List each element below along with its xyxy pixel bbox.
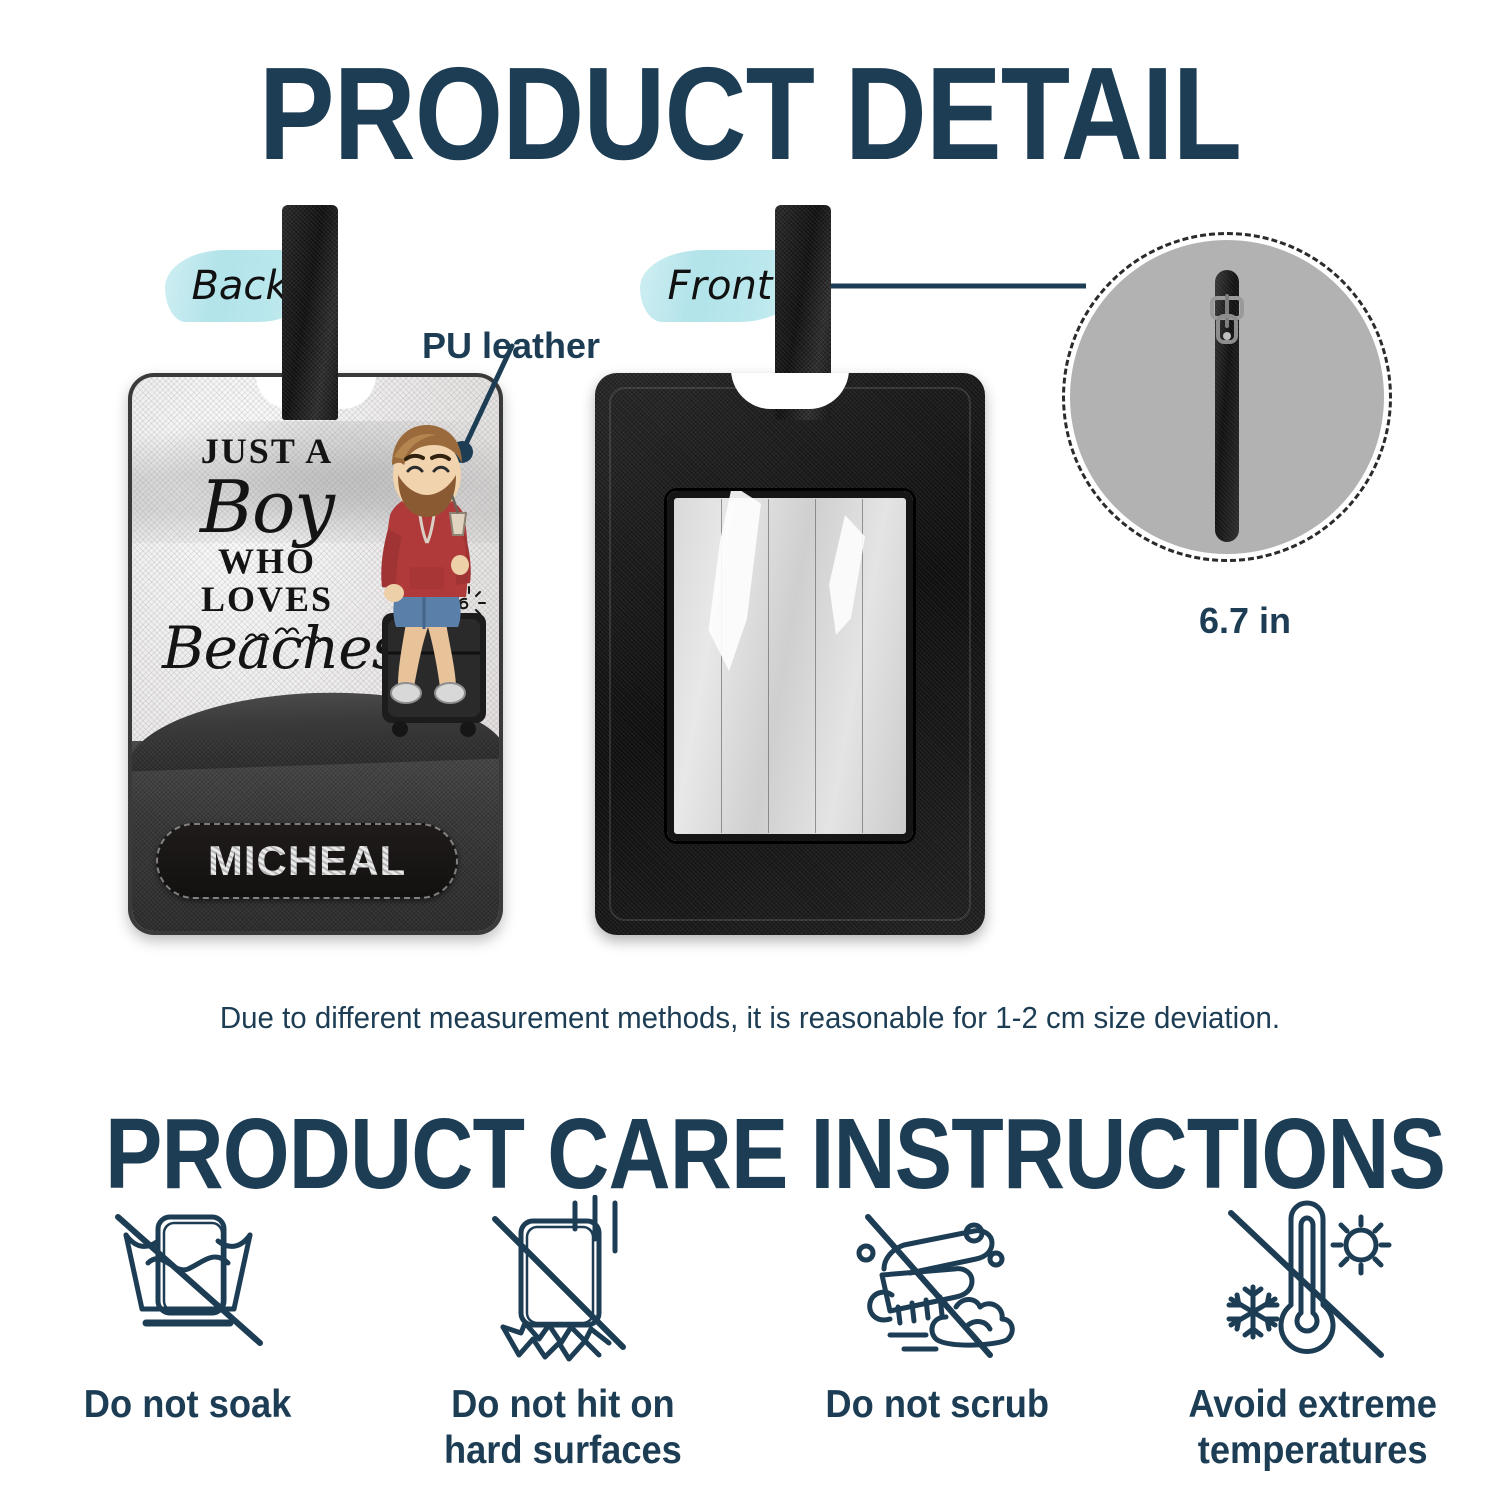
care-label: Do not soak: [84, 1382, 292, 1428]
id-card-window: [667, 491, 913, 841]
care-item-do-not-hit: Do not hit on hard surfaces: [375, 1195, 750, 1495]
tag-quote-block: JUST A Boy WHO LOVES Beaches: [162, 433, 372, 678]
luggage-tag-front: [595, 373, 985, 935]
no-impact-icon: [463, 1195, 663, 1370]
no-soak-icon: [88, 1195, 288, 1370]
tag-back-face: JUST A Boy WHO LOVES Beaches: [132, 377, 499, 931]
care-label: Avoid extreme temperatures: [1188, 1382, 1437, 1474]
name-plate-text: MICHEAL: [208, 837, 406, 885]
care-instructions-row: Do not soak Do not hit on hard surfaces: [0, 1195, 1500, 1495]
tag-strap-back: [282, 205, 338, 420]
luggage-tag-back: JUST A Boy WHO LOVES Beaches: [128, 373, 503, 935]
strap-detail-magnifier: [1062, 232, 1392, 562]
no-scrub-icon: [838, 1195, 1038, 1370]
id-card-lines: [675, 499, 905, 833]
no-extreme-temperature-icon: [1213, 1195, 1413, 1370]
front-leader-line-icon: [790, 268, 1090, 304]
size-label: 6.7 in: [1100, 600, 1390, 642]
quote-line-5: Beaches: [162, 621, 372, 676]
metal-buckle-icon: [1204, 292, 1250, 356]
care-item-do-not-soak: Do not soak: [0, 1195, 375, 1495]
page-title: PRODUCT DETAIL: [105, 38, 1395, 189]
magnifier-background: [1070, 240, 1384, 554]
care-item-avoid-extreme-temps: Avoid extreme temperatures: [1125, 1195, 1500, 1495]
quote-line-2: Boy: [162, 473, 372, 541]
care-label: Do not hit on hard surfaces: [444, 1382, 682, 1474]
care-item-do-not-scrub: Do not scrub: [750, 1195, 1125, 1495]
front-tag-top-notch: [731, 373, 849, 409]
man-sitting-on-suitcase-illustration: [344, 417, 499, 747]
name-plate: MICHEAL: [156, 823, 458, 899]
care-label: Do not scrub: [826, 1382, 1050, 1428]
measurement-disclaimer: Due to different measurement methods, it…: [38, 1000, 1463, 1036]
quote-line-3: WHO: [162, 543, 372, 581]
